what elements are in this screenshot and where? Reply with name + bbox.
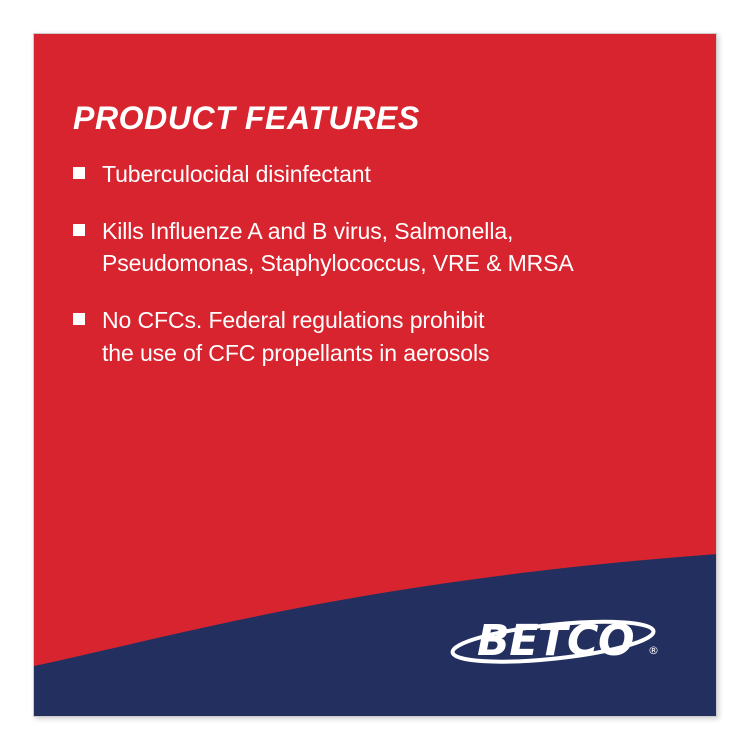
feature-line: Tuberculocidal disinfectant [102,158,371,191]
square-bullet-icon [73,167,85,179]
feature-text: Kills Influenze A and B virus, Salmonell… [102,215,574,280]
feature-card: PRODUCT FEATURES Tuberculocidal disinfec… [33,33,717,717]
feature-line: the use of CFC propellants in aerosols [102,337,489,370]
feature-line: Kills Influenze A and B virus, Salmonell… [102,215,574,248]
feature-line: Pseudomonas, Staphylococcus, VRE & MRSA [102,247,574,280]
registered-trademark-icon: ® [648,644,659,657]
list-item: No CFCs. Federal regulations prohibit th… [73,304,693,369]
logo-wordmark: BETCO [477,616,634,666]
feature-text: No CFCs. Federal regulations prohibit th… [102,304,489,369]
list-item: Kills Influenze A and B virus, Salmonell… [73,215,693,280]
list-item: Tuberculocidal disinfectant [73,158,693,191]
product-features-graphic: PRODUCT FEATURES Tuberculocidal disinfec… [0,0,750,750]
betco-logo: BETCO ® [449,610,671,672]
page-title: PRODUCT FEATURES [73,102,420,134]
feature-list: Tuberculocidal disinfectant Kills Influe… [73,158,693,369]
square-bullet-icon [73,224,85,236]
square-bullet-icon [73,313,85,325]
feature-text: Tuberculocidal disinfectant [102,158,371,191]
feature-line: No CFCs. Federal regulations prohibit [102,304,489,337]
betco-logo-mark: BETCO ® [449,610,671,672]
